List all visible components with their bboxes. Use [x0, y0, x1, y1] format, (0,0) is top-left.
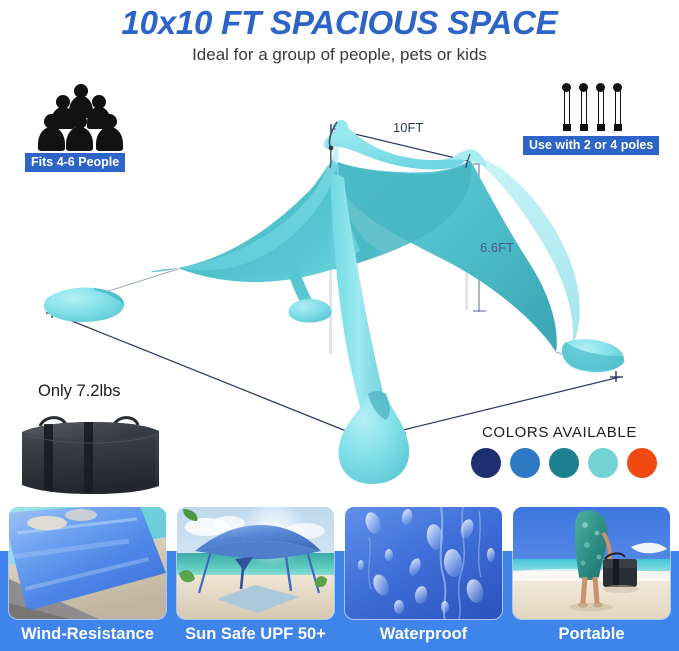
right-corner-sandbag [562, 339, 625, 372]
feature-portable[interactable]: Portable [513, 507, 670, 651]
feature-label: Sun Safe UPF 50+ [177, 625, 334, 644]
page-subtitle: Ideal for a group of people, pets or kid… [0, 45, 679, 65]
color-swatch-teal[interactable] [549, 448, 579, 478]
sand-anchor-bag [289, 299, 332, 323]
feature-sun-safe[interactable]: Sun Safe UPF 50+ [177, 507, 334, 651]
feature-label: Waterproof [345, 625, 502, 644]
feature-thumb-waterproof [345, 507, 502, 619]
feature-thumb-sun-safe [177, 507, 334, 619]
color-swatch-light-turquoise[interactable] [588, 448, 618, 478]
feature-label: Wind-Resistance [9, 625, 166, 644]
color-swatch-orange-red[interactable] [627, 448, 657, 478]
color-swatch-list [471, 448, 671, 480]
feature-thumb-portable [513, 507, 670, 619]
bottom-center-sandbag [339, 391, 410, 484]
feature-label: Portable [513, 625, 670, 644]
weight-label: Only 7.2lbs [38, 382, 121, 401]
feature-wind-resistance[interactable]: Wind-Resistance [9, 507, 166, 651]
dimension-label-height: 6.6FT [480, 240, 514, 255]
color-swatch-navy[interactable] [471, 448, 501, 478]
feature-list: Wind-Resistance [0, 507, 679, 651]
dimension-label-width: 10FT [393, 120, 423, 135]
left-corner-sandbag [44, 288, 124, 322]
feature-thumb-wind-resistance [9, 507, 166, 619]
colors-available-title: COLORS AVAILABLE [482, 424, 637, 441]
carry-duffel-bag [18, 410, 163, 495]
page-title: 10x10 FT SPACIOUS SPACE [0, 4, 679, 42]
color-swatch-blue[interactable] [510, 448, 540, 478]
feature-waterproof[interactable]: Waterproof [345, 507, 502, 651]
